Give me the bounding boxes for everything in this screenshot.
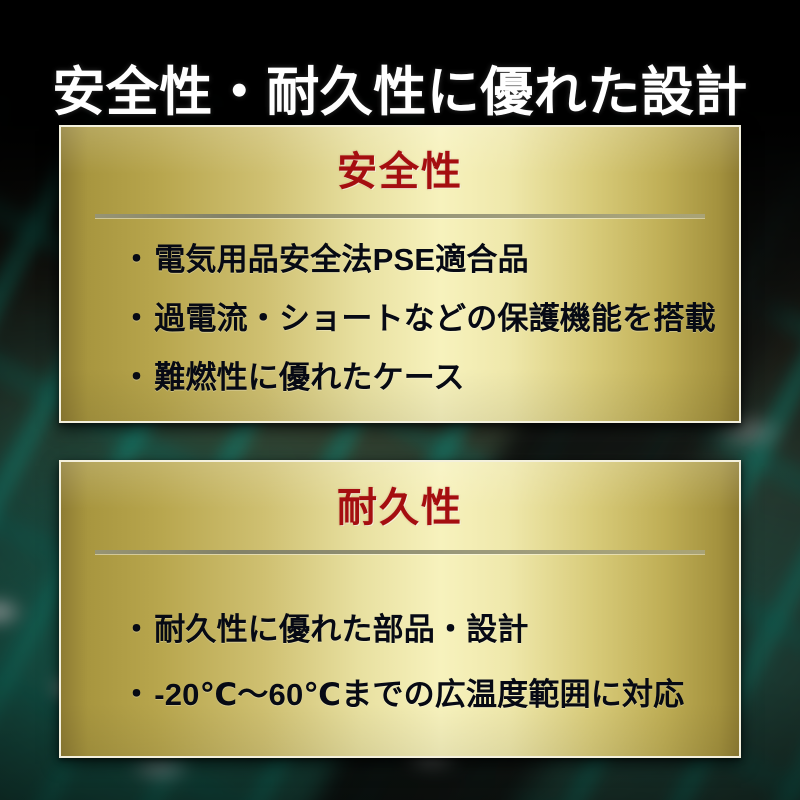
list-item-label: -20℃〜60℃までの広温度範囲に対応 xyxy=(154,677,684,712)
bullet-marker-icon: ・ xyxy=(121,679,152,710)
bullet-marker-icon: ・ xyxy=(121,362,152,393)
safety-card-heading: 安全性 xyxy=(61,152,739,192)
safety-bullet-list: ・電気用品安全法PSE適合品 ・過電流・ショートなどの保護機能を搭載 ・難燃性に… xyxy=(61,244,739,393)
list-item: ・過電流・ショートなどの保護機能を搭載 xyxy=(61,303,739,334)
durability-bullet-list: ・耐久性に優れた部品・設計 ・-20℃〜60℃までの広温度範囲に対応 xyxy=(61,614,739,710)
list-item: ・耐久性に優れた部品・設計 xyxy=(61,614,739,645)
durability-card-divider xyxy=(95,550,705,554)
page-title: 安全性・耐久性に優れた設計 xyxy=(0,64,800,121)
bullet-marker-icon: ・ xyxy=(121,303,152,334)
list-item-label: 難燃性に優れたケース xyxy=(154,360,464,395)
list-item: ・-20℃〜60℃までの広温度範囲に対応 xyxy=(61,679,739,710)
durability-card-heading: 耐久性 xyxy=(61,488,739,528)
bullet-marker-icon: ・ xyxy=(121,614,152,645)
list-item: ・難燃性に優れたケース xyxy=(61,362,739,393)
slide-canvas: 安全性・耐久性に優れた設計 安全性 ・電気用品安全法PSE適合品 ・過電流・ショ… xyxy=(0,0,800,800)
bullet-marker-icon: ・ xyxy=(121,244,152,275)
list-item-label: 耐久性に優れた部品・設計 xyxy=(154,612,528,647)
durability-card: 耐久性 ・耐久性に優れた部品・設計 ・-20℃〜60℃までの広温度範囲に対応 xyxy=(59,460,741,758)
list-item-label: 過電流・ショートなどの保護機能を搭載 xyxy=(154,301,716,336)
list-item-label: 電気用品安全法PSE適合品 xyxy=(154,242,529,277)
safety-card-divider xyxy=(95,214,705,218)
list-item: ・電気用品安全法PSE適合品 xyxy=(61,244,739,275)
safety-card: 安全性 ・電気用品安全法PSE適合品 ・過電流・ショートなどの保護機能を搭載 ・… xyxy=(59,125,741,423)
